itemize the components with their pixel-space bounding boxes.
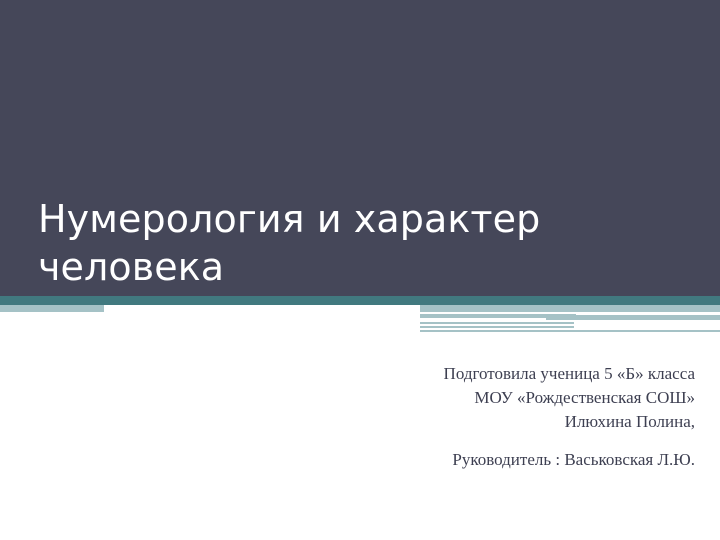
- subtitle-line-4: Руководитель : Васьковская Л.Ю.: [452, 450, 695, 469]
- band-dark-bar: [0, 296, 720, 305]
- subtitle-paragraph-author: Подготовила ученица 5 «Б» класса МОУ «Ро…: [275, 362, 695, 434]
- band-hairline-1: [420, 322, 574, 324]
- subtitle-line-1: Подготовила ученица 5 «Б» класса: [444, 364, 695, 383]
- title-area: Нумерология и характер человека: [0, 0, 720, 296]
- band-light-left-block: [0, 305, 104, 312]
- band-hairline-3: [420, 330, 720, 332]
- slide-title: Нумерология и характер человека: [38, 196, 598, 292]
- subtitle-line-3: Илюхина Полина,: [565, 412, 695, 431]
- subtitle-paragraph-supervisor: Руководитель : Васьковская Л.Ю.: [275, 448, 695, 472]
- presentation-slide: Нумерология и характер человека Подготов…: [0, 0, 720, 540]
- band-hairline-2: [420, 326, 574, 328]
- subtitle-area: Подготовила ученица 5 «Б» класса МОУ «Ро…: [275, 362, 695, 473]
- subtitle-line-2: МОУ «Рождественская СОШ»: [474, 388, 695, 407]
- band-notch-upper: [576, 312, 720, 315]
- decorative-band: [0, 296, 720, 332]
- band-light-right-block: [420, 305, 720, 312]
